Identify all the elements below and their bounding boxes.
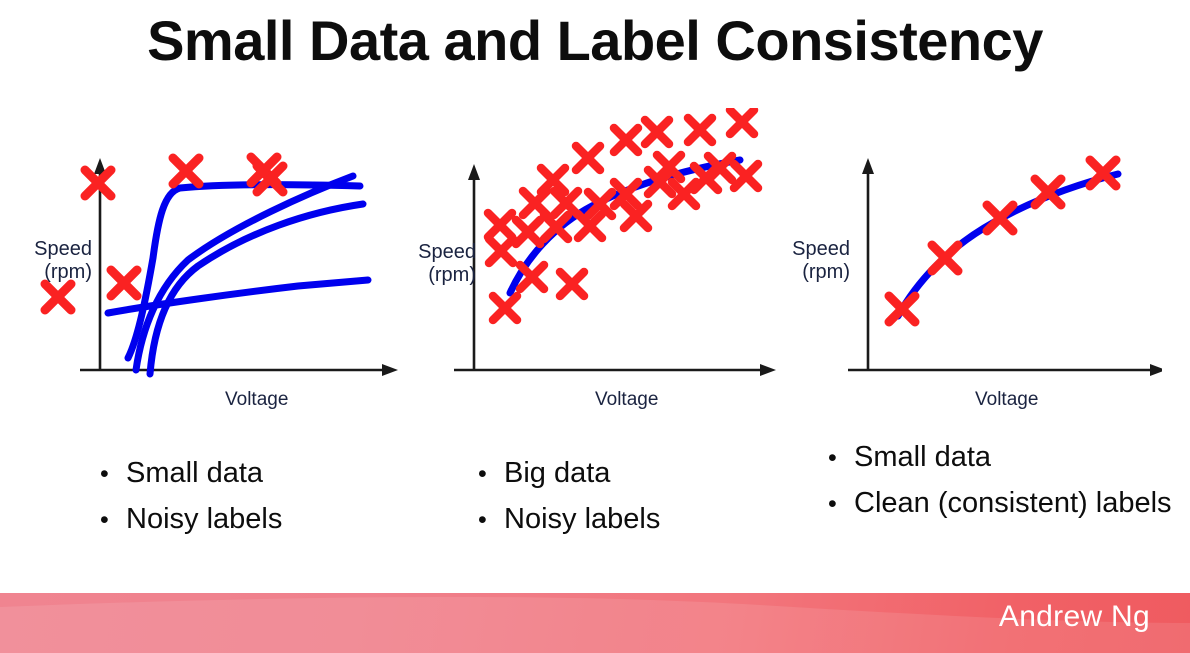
marker-x bbox=[932, 245, 958, 271]
y-axis-label-line1: Speed bbox=[792, 238, 850, 260]
x-axis-arrow bbox=[1150, 364, 1162, 376]
marker-x bbox=[560, 272, 584, 296]
bullet-dot-icon: • bbox=[478, 498, 504, 542]
bullet-text: Noisy labels bbox=[126, 498, 282, 541]
data-markers bbox=[488, 110, 758, 320]
bullet-dot-icon: • bbox=[828, 436, 854, 480]
bullet-text: Noisy labels bbox=[504, 498, 660, 541]
marker-x bbox=[488, 213, 512, 237]
marker-x bbox=[688, 118, 712, 142]
bullet-dot-icon: • bbox=[828, 482, 854, 526]
x-axis-label-1: Voltage bbox=[225, 389, 288, 411]
y-axis-label-line1: Speed bbox=[418, 241, 476, 263]
page-title: Small Data and Label Consistency bbox=[0, 8, 1190, 73]
bullet-text: Small data bbox=[854, 436, 991, 479]
marker-x bbox=[645, 120, 669, 144]
marker-x bbox=[730, 110, 754, 134]
bullet-dot-icon: • bbox=[100, 498, 126, 542]
axes bbox=[454, 176, 764, 370]
marker-x bbox=[516, 220, 540, 244]
bullet-dot-icon: • bbox=[100, 452, 126, 496]
marker-x bbox=[45, 284, 71, 310]
bullet-list-3: • Small data • Clean (consistent) labels bbox=[828, 436, 1178, 528]
slide: Small Data and Label Consistency bbox=[0, 0, 1190, 653]
x-axis-label-2: Voltage bbox=[595, 389, 658, 411]
bullet-dot-icon: • bbox=[478, 452, 504, 496]
list-item: • Big data bbox=[478, 452, 808, 496]
list-item: • Noisy labels bbox=[478, 498, 808, 542]
y-axis-label-3: Speed (rpm) bbox=[760, 238, 850, 284]
axes bbox=[80, 170, 386, 370]
fit-curves bbox=[108, 176, 368, 374]
marker-x bbox=[173, 158, 199, 184]
marker-x bbox=[576, 146, 600, 170]
marker-x bbox=[520, 265, 544, 289]
bullet-text: Big data bbox=[504, 452, 610, 495]
marker-x bbox=[489, 239, 513, 263]
y-axis-arrow bbox=[468, 164, 480, 180]
y-axis-arrow bbox=[862, 158, 874, 174]
y-axis-label-2: Speed (rpm) bbox=[386, 241, 476, 287]
list-item: • Noisy labels bbox=[100, 498, 430, 542]
axes bbox=[848, 170, 1154, 370]
bullet-list-2: • Big data • Noisy labels bbox=[478, 452, 808, 544]
y-axis-label-line2: (rpm) bbox=[802, 261, 850, 283]
marker-x bbox=[614, 128, 638, 152]
list-item: • Small data bbox=[828, 436, 1178, 480]
y-axis-label-line2: (rpm) bbox=[428, 264, 476, 286]
x-axis-label-3: Voltage bbox=[975, 389, 1038, 411]
list-item: • Small data bbox=[100, 452, 430, 496]
marker-x bbox=[734, 164, 758, 188]
bullet-list-1: • Small data • Noisy labels bbox=[100, 452, 430, 544]
footer-bar: Andrew Ng bbox=[0, 593, 1190, 653]
author-name: Andrew Ng bbox=[999, 600, 1150, 634]
marker-x bbox=[111, 270, 137, 296]
marker-x bbox=[889, 296, 915, 322]
y-axis-label-1: Speed (rpm) bbox=[2, 238, 92, 284]
y-axis-label-line2: (rpm) bbox=[44, 261, 92, 283]
bullet-text: Clean (consistent) labels bbox=[854, 482, 1172, 525]
fit-curve-3 bbox=[136, 176, 353, 370]
bullet-text: Small data bbox=[126, 452, 263, 495]
charts-row: Speed (rpm) Speed (rpm) Speed (rpm) Volt… bbox=[0, 108, 1190, 428]
list-item: • Clean (consistent) labels bbox=[828, 482, 1178, 526]
y-axis-label-line1: Speed bbox=[34, 238, 92, 260]
marker-x bbox=[493, 296, 517, 320]
